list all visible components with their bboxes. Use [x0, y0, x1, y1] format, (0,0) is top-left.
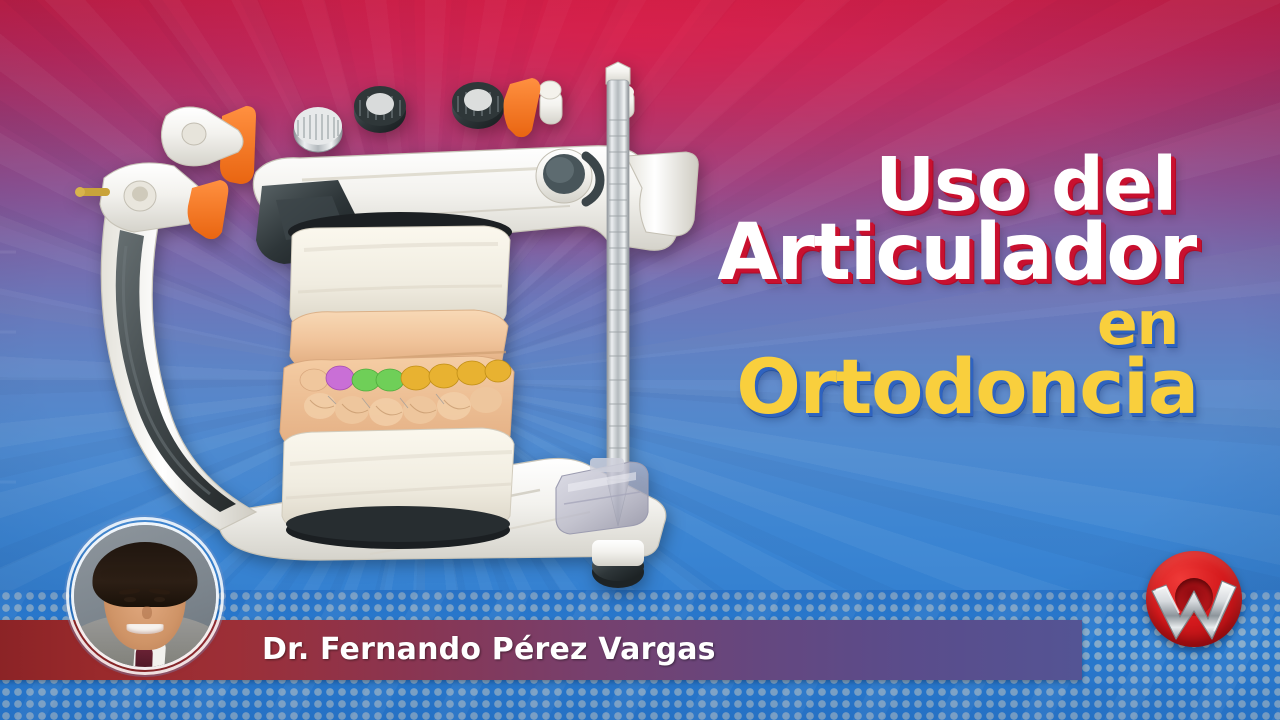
channel-logo	[1146, 551, 1242, 647]
avatar-eye-left	[124, 597, 135, 602]
presenter-name: Dr. Fernando Pérez Vargas	[262, 632, 716, 667]
avatar-eye-right	[154, 597, 165, 602]
avatar-nose	[142, 606, 152, 619]
title-line-2: Articulador	[600, 216, 1200, 290]
title-block: Uso del Articulador en Ortodoncia	[600, 150, 1200, 480]
articulator-adjustment-knobs	[294, 81, 634, 152]
logo-w-mark	[1146, 551, 1242, 647]
title-line-4: Ortodoncia	[600, 351, 1200, 423]
articulator-pin-lock-knob	[536, 149, 600, 203]
avatar-smile	[127, 624, 164, 634]
presenter-avatar	[74, 525, 216, 667]
thumbnail-canvas: Uso del Articulador en Ortodoncia Dr. Fe…	[0, 0, 1280, 720]
